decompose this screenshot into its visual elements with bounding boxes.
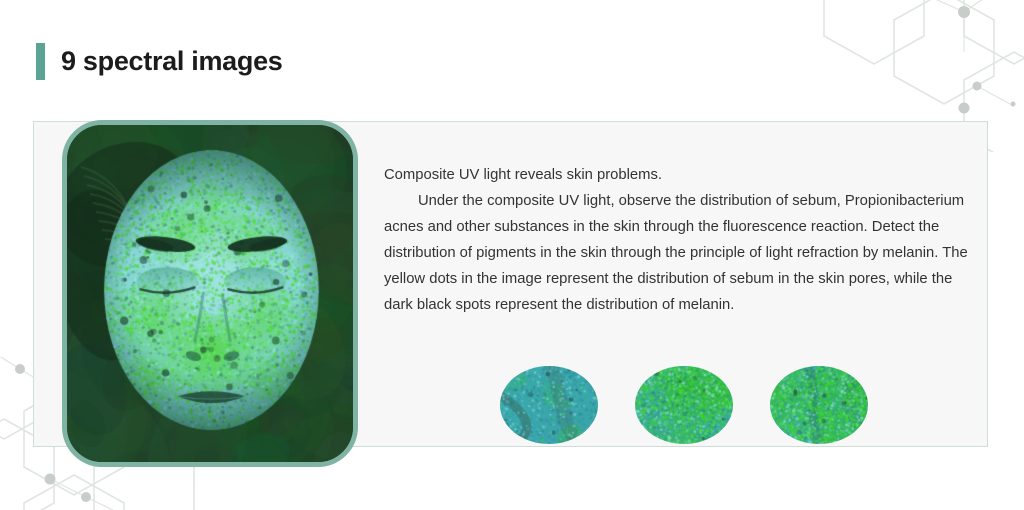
thumbnail-canvas [770, 366, 868, 444]
uv-closeup-cheek[interactable] [635, 366, 733, 444]
description-text-block: Composite UV light reveals skin problems… [384, 162, 984, 318]
face-photo-canvas [67, 125, 353, 462]
page-title: 9 spectral images [36, 43, 283, 80]
thumbnail-row [500, 366, 870, 446]
thumbnail-canvas [635, 366, 733, 444]
description-lead: Composite UV light reveals skin problems… [384, 162, 984, 188]
description-paragraph: Under the composite UV light, observe th… [384, 188, 984, 318]
slide-canvas: 9 spectral images Composite UV light rev… [0, 0, 1024, 510]
title-label: 9 spectral images [61, 46, 283, 77]
composite-uv-face-photo[interactable] [62, 120, 358, 467]
uv-closeup-forehead[interactable] [770, 366, 868, 444]
title-accent-bar [36, 43, 45, 80]
uv-closeup-nose[interactable] [500, 366, 598, 444]
thumbnail-canvas [500, 366, 598, 444]
